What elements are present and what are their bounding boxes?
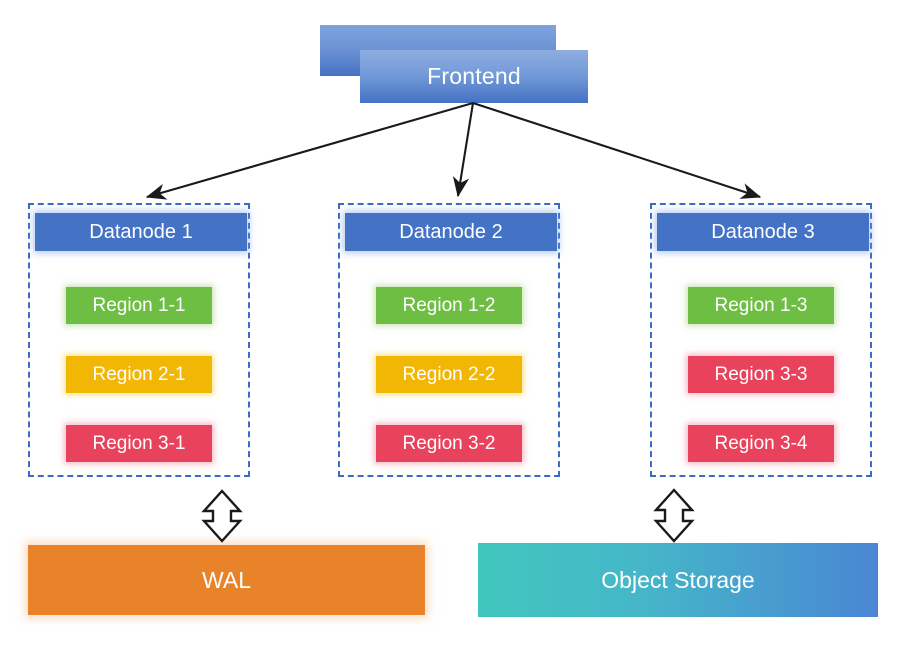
region-label: Region 1-2 xyxy=(403,296,496,315)
datanode-container-1[interactable]: Datanode 1 Region 1-1 Region 2-1 Region … xyxy=(28,203,250,477)
datanode-header-1[interactable]: Datanode 1 xyxy=(35,213,247,251)
region-box[interactable]: Region 1-3 xyxy=(688,287,834,324)
region-label: Region 3-1 xyxy=(93,434,186,453)
wal-node[interactable]: WAL xyxy=(28,545,425,615)
object-storage-node[interactable]: Object Storage xyxy=(478,543,878,617)
frontend-to-datanode-arrows xyxy=(147,103,760,197)
region-box[interactable]: Region 3-1 xyxy=(66,425,212,462)
region-box[interactable]: Region 2-1 xyxy=(66,356,212,393)
region-label: Region 1-3 xyxy=(715,296,808,315)
region-box[interactable]: Region 3-3 xyxy=(688,356,834,393)
frontend-node[interactable]: Frontend xyxy=(360,50,588,103)
arrow-frontend-to-datanode-3 xyxy=(473,103,760,197)
arrow-frontend-to-datanode-2 xyxy=(458,103,473,196)
region-list-2: Region 1-2 Region 2-2 Region 3-2 xyxy=(340,287,558,477)
region-label: Region 2-1 xyxy=(93,365,186,384)
datanode-container-3[interactable]: Datanode 3 Region 1-3 Region 3-3 Region … xyxy=(650,203,872,477)
region-list-3: Region 1-3 Region 3-3 Region 3-4 xyxy=(652,287,870,477)
region-list-1: Region 1-1 Region 2-1 Region 3-1 xyxy=(30,287,248,477)
datanode-header-2[interactable]: Datanode 2 xyxy=(345,213,557,251)
datanode-container-2[interactable]: Datanode 2 Region 1-2 Region 2-2 Region … xyxy=(338,203,560,477)
region-box[interactable]: Region 3-2 xyxy=(376,425,522,462)
datanode-header-label: Datanode 1 xyxy=(89,222,192,242)
region-label: Region 1-1 xyxy=(93,296,186,315)
region-label: Region 2-2 xyxy=(403,365,496,384)
region-box[interactable]: Region 1-2 xyxy=(376,287,522,324)
frontend-label: Frontend xyxy=(427,65,521,88)
diagram-canvas: Frontend Datanode 1 Region 1-1 Region 2-… xyxy=(0,0,906,646)
datanode-header-3[interactable]: Datanode 3 xyxy=(657,213,869,251)
arrow-frontend-to-datanode-1 xyxy=(147,103,473,197)
region-label: Region 3-2 xyxy=(403,434,496,453)
region-label: Region 3-3 xyxy=(715,365,808,384)
region-label: Region 3-4 xyxy=(715,434,808,453)
wal-label: WAL xyxy=(202,569,251,592)
datanode-header-label: Datanode 2 xyxy=(399,222,502,242)
object-storage-label: Object Storage xyxy=(601,569,754,592)
region-box[interactable]: Region 3-4 xyxy=(688,425,834,462)
arrow-datanode1-to-wal xyxy=(204,491,240,541)
region-box[interactable]: Region 2-2 xyxy=(376,356,522,393)
datanode-header-label: Datanode 3 xyxy=(711,222,814,242)
region-box[interactable]: Region 1-1 xyxy=(66,287,212,324)
bidirectional-block-arrows xyxy=(204,490,692,541)
arrow-datanode3-to-object-storage xyxy=(656,490,692,541)
